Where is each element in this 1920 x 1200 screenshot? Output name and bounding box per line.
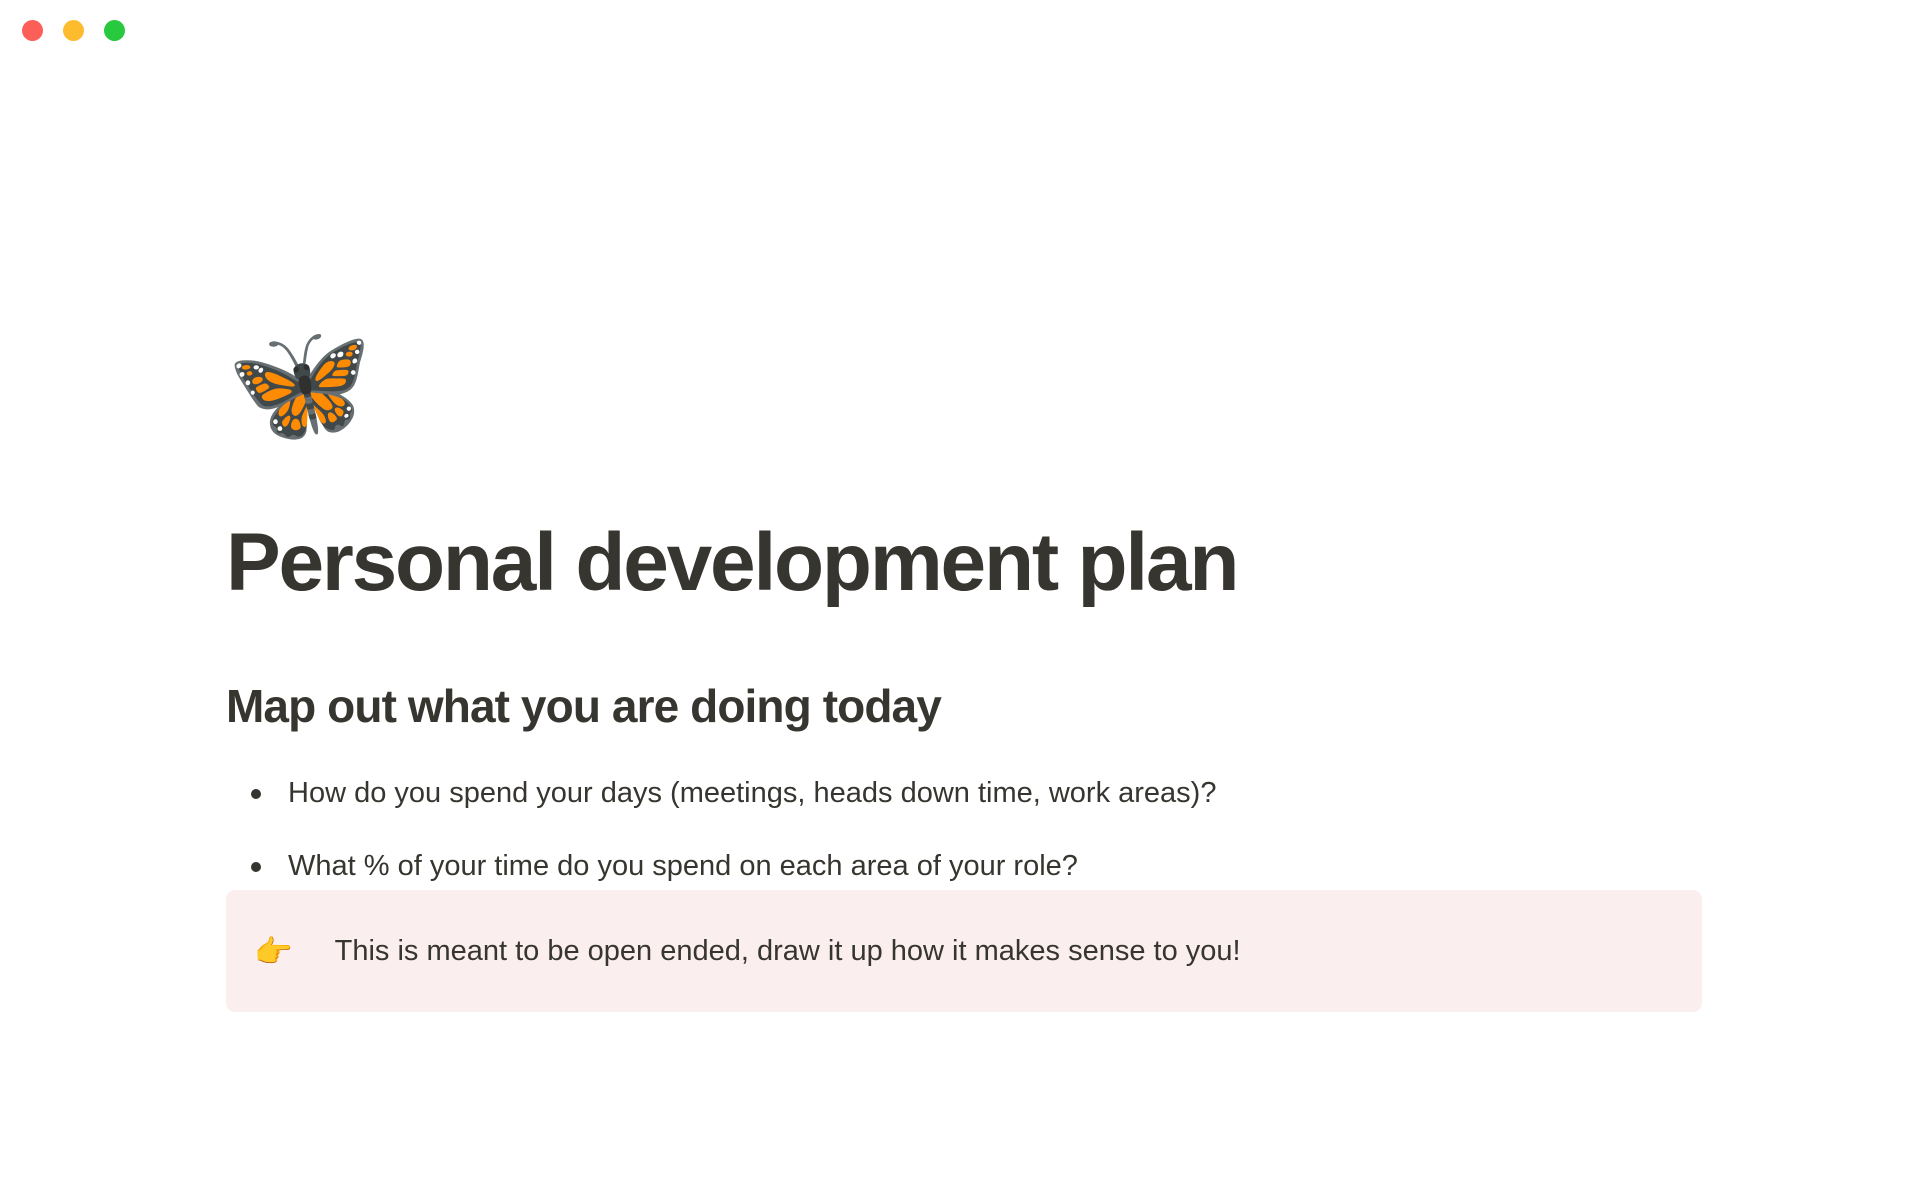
maximize-window-button[interactable]: [104, 20, 125, 41]
bullet-dot-icon: [251, 789, 261, 799]
list-item[interactable]: How do you spend your days (meetings, he…: [226, 772, 1706, 816]
callout-block[interactable]: 👉 This is meant to be open ended, draw i…: [226, 890, 1702, 1012]
list-item[interactable]: What % of your time do you spend on each…: [226, 845, 1706, 889]
page-title[interactable]: Personal development plan: [226, 520, 1237, 606]
close-window-button[interactable]: [22, 20, 43, 41]
traffic-light-group: [22, 20, 125, 41]
list-item-text: How do you spend your days (meetings, he…: [288, 777, 1216, 809]
bullet-dot-icon: [251, 862, 261, 872]
butterfly-emoji[interactable]: 🦋: [226, 325, 373, 443]
document-canvas: 🦋 Personal development plan Map out what…: [0, 60, 1920, 1200]
minimize-window-button[interactable]: [63, 20, 84, 41]
list-item-text: What % of your time do you spend on each…: [288, 850, 1078, 882]
section-heading[interactable]: Map out what you are doing today: [226, 680, 941, 733]
window-title-bar: [0, 0, 1920, 60]
callout-text: This is meant to be open ended, draw it …: [335, 930, 1241, 972]
pointing-right-emoji: 👉: [254, 936, 293, 967]
